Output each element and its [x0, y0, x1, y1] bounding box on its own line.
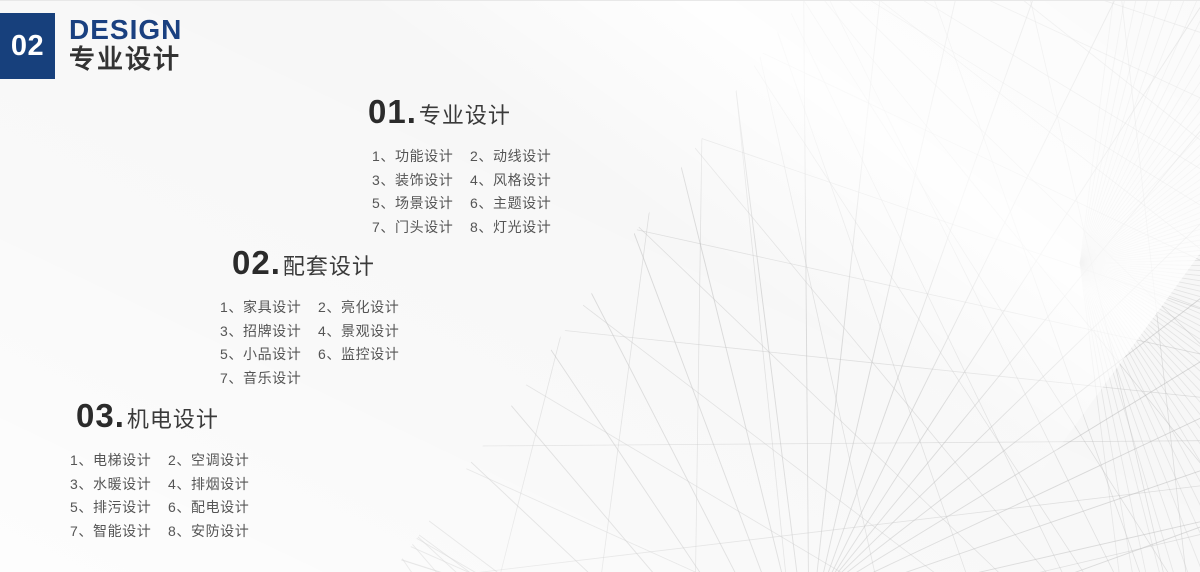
list-row: 1、功能设计 2、动线设计: [372, 145, 558, 169]
list-row: 3、水暖设计 4、排烟设计: [70, 473, 256, 497]
list-row: 7、音乐设计: [220, 367, 406, 391]
list-row: 3、招牌设计 4、景观设计: [220, 320, 406, 344]
list-item: 8、灯光设计: [470, 216, 558, 240]
list-item: 5、场景设计: [372, 192, 460, 216]
section-index-01: 01.: [368, 93, 417, 131]
section-block-02: 02. 配套设计 1、家具设计 2、亮化设计 3、招牌设计 4、景观设计 5、小…: [232, 244, 406, 390]
list-row: 5、小品设计 6、监控设计: [220, 343, 406, 367]
section-list-02: 1、家具设计 2、亮化设计 3、招牌设计 4、景观设计 5、小品设计 6、监控设…: [220, 296, 406, 390]
list-row: 1、家具设计 2、亮化设计: [220, 296, 406, 320]
section-block-03: 03. 机电设计 1、电梯设计 2、空调设计 3、水暖设计 4、排烟设计 5、排…: [76, 397, 256, 543]
header-text-block: DESIGN 专业设计: [69, 13, 182, 75]
list-item: 7、门头设计: [372, 216, 460, 240]
section-heading-01: 01. 专业设计: [368, 93, 558, 131]
slide-root: 02 DESIGN 专业设计 01. 专业设计 1、功能设计 2、动线设计 3、…: [0, 0, 1200, 572]
list-item: 3、水暖设计: [70, 473, 158, 497]
list-row: 1、电梯设计 2、空调设计: [70, 449, 256, 473]
list-row: 7、门头设计 8、灯光设计: [372, 216, 558, 240]
list-item: 2、亮化设计: [318, 296, 406, 320]
slide-header: 02 DESIGN 专业设计: [0, 13, 182, 79]
section-index-02: 02.: [232, 244, 281, 282]
section-heading-03: 03. 机电设计: [76, 397, 256, 435]
section-title-02: 配套设计: [283, 249, 375, 281]
page-title-cn: 专业设计: [69, 45, 182, 74]
list-row: 5、场景设计 6、主题设计: [372, 192, 558, 216]
section-title-03: 机电设计: [127, 402, 219, 434]
list-item: 1、功能设计: [372, 145, 460, 169]
list-row: 5、排污设计 6、配电设计: [70, 496, 256, 520]
section-number-badge: 02: [0, 13, 55, 79]
list-row: 7、智能设计 8、安防设计: [70, 520, 256, 544]
list-item: 6、配电设计: [168, 496, 256, 520]
list-item: 4、排烟设计: [168, 473, 256, 497]
list-item: 6、监控设计: [318, 343, 406, 367]
section-heading-02: 02. 配套设计: [232, 244, 406, 282]
list-item: 5、小品设计: [220, 343, 308, 367]
list-row: 3、装饰设计 4、风格设计: [372, 169, 558, 193]
section-index-03: 03.: [76, 397, 125, 435]
list-item: 7、音乐设计: [220, 367, 308, 391]
section-title-01: 专业设计: [419, 98, 511, 130]
list-item: 8、安防设计: [168, 520, 256, 544]
list-item: 5、排污设计: [70, 496, 158, 520]
list-item: 3、招牌设计: [220, 320, 308, 344]
list-item: 2、空调设计: [168, 449, 256, 473]
diagonal-light-wash: [300, 0, 1200, 490]
list-item: 4、景观设计: [318, 320, 406, 344]
page-title-en: DESIGN: [69, 15, 182, 44]
list-item: 6、主题设计: [470, 192, 558, 216]
list-item: [318, 367, 406, 391]
section-block-01: 01. 专业设计 1、功能设计 2、动线设计 3、装饰设计 4、风格设计 5、场…: [368, 93, 558, 239]
list-item: 1、家具设计: [220, 296, 308, 320]
list-item: 3、装饰设计: [372, 169, 460, 193]
section-list-01: 1、功能设计 2、动线设计 3、装饰设计 4、风格设计 5、场景设计 6、主题设…: [372, 145, 558, 239]
list-item: 2、动线设计: [470, 145, 558, 169]
list-item: 7、智能设计: [70, 520, 158, 544]
list-item: 4、风格设计: [470, 169, 558, 193]
section-list-03: 1、电梯设计 2、空调设计 3、水暖设计 4、排烟设计 5、排污设计 6、配电设…: [70, 449, 256, 543]
list-item: 1、电梯设计: [70, 449, 158, 473]
